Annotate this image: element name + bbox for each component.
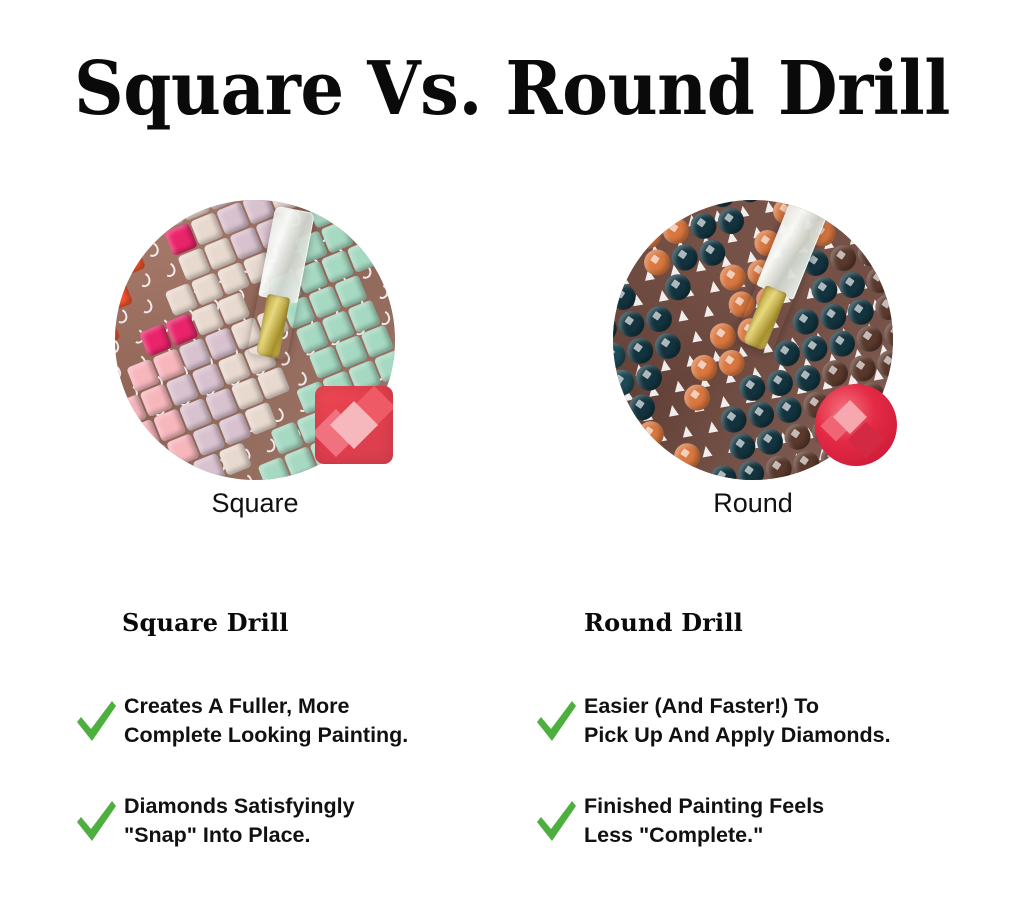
bullet-text: Easier (And Faster!) To Pick Up And Appl… [584,692,891,750]
round-drill-bead [875,348,893,378]
round-drill-bead [755,427,785,457]
round-drill-bead [782,422,812,452]
round-drill-bead [846,297,876,327]
round-drill-bead [642,247,672,277]
round-drill-bead [644,304,674,334]
round-drill-bead [883,233,893,263]
round-drill-bead [617,451,647,480]
round-drill-bead [613,257,617,287]
round-drill-bead [613,314,619,344]
round-drill-bead [613,282,638,312]
bullet-list-round: Easier (And Faster!) To Pick Up And Appl… [534,690,984,890]
round-drill-bead [670,243,700,273]
round-drill-bead [864,265,893,295]
round-drill-bead [718,405,748,435]
round-drill-bead [765,368,795,398]
round-drill-bead [688,211,718,241]
bullet-item: Easier (And Faster!) To Pick Up And Appl… [534,690,984,752]
check-icon [74,795,118,847]
round-drill-bead [645,446,675,476]
round-drill-bead [774,395,804,425]
round-drill-bead [764,453,794,480]
round-drill-bead [737,373,767,403]
round-drill-bead [717,348,747,378]
round-drill-bead [613,367,636,397]
bullet-item: Diamonds Satisfyingly "Snap" Into Place. [74,790,504,852]
photo-cell-round [603,198,903,488]
round-drill-bead [828,243,858,273]
round-drill-bead [718,262,748,292]
photo-caption-square: Square [105,488,405,519]
page-title: Square Vs. Round Drill [36,48,988,130]
round-drill-bead [613,200,627,229]
square-gem-icon [315,386,393,464]
bullet-text: Diamonds Satisfyingly "Snap" Into Place. [124,792,355,850]
round-drill-bead [791,307,821,337]
round-drill-bead [854,324,884,354]
round-drill-bead [848,353,878,383]
round-drill-bead [856,238,886,268]
round-drill-bead [882,319,893,349]
round-drill-bead [716,206,746,236]
round-drill-bead [792,363,822,393]
round-drill-bead [892,260,893,290]
round-drill-bead [613,341,628,371]
pen-wax-tip [255,294,289,359]
column-heading-square: Square Drill [122,608,289,637]
check-icon [534,695,578,747]
infographic-page: Square Vs. Round Drill [0,0,1024,922]
round-drill-bead [663,272,693,302]
round-drill-bead [627,392,657,422]
round-drill-bead [634,363,664,393]
round-drill-bead [661,216,691,246]
check-icon [74,695,118,747]
round-drill-bead [736,458,766,480]
round-drill-bead [746,400,776,430]
round-drill-bead [636,419,666,449]
round-gem-icon [815,384,897,466]
round-drill-bead [809,275,839,305]
photo-row [0,198,1024,488]
bullet-text: Creates A Fuller, More Complete Looking … [124,692,408,750]
round-drill-bead [708,463,738,480]
bullet-text: Finished Painting Feels Less "Complete." [584,792,824,850]
round-drill-bead [633,221,663,251]
photo-caption-round: Round [603,488,903,519]
round-drill-bead [863,209,893,239]
round-drill-bead [613,397,629,427]
round-drill-bead [799,333,829,363]
round-drill-bead [653,331,683,361]
bullet-list-square: Creates A Fuller, More Complete Looking … [74,690,504,890]
round-drill-bead [881,200,893,207]
bullet-item: Finished Painting Feels Less "Complete." [534,790,984,852]
round-drill-bead [616,309,646,339]
round-drill-bead [772,338,802,368]
round-drill-bead [697,238,727,268]
round-drill-bead [708,321,738,351]
round-drill-bead [689,353,719,383]
round-drill-bead [727,431,757,461]
round-drill-bead [890,204,893,234]
check-icon [534,795,578,847]
round-drill-bead [682,383,712,413]
round-drill-bead [827,329,857,359]
round-drill-bead [613,424,638,454]
round-drill-bead [873,292,893,322]
column-heading-round: Round Drill [584,608,743,637]
round-drill-bead [672,441,702,471]
round-drill-bead [625,336,655,366]
round-drill-bead [791,449,821,479]
round-drill-bead [837,270,867,300]
photo-cell-square [105,198,405,488]
bullet-item: Creates A Fuller, More Complete Looking … [74,690,504,752]
round-drill-bead [818,302,848,332]
round-drill-bead [820,358,850,388]
